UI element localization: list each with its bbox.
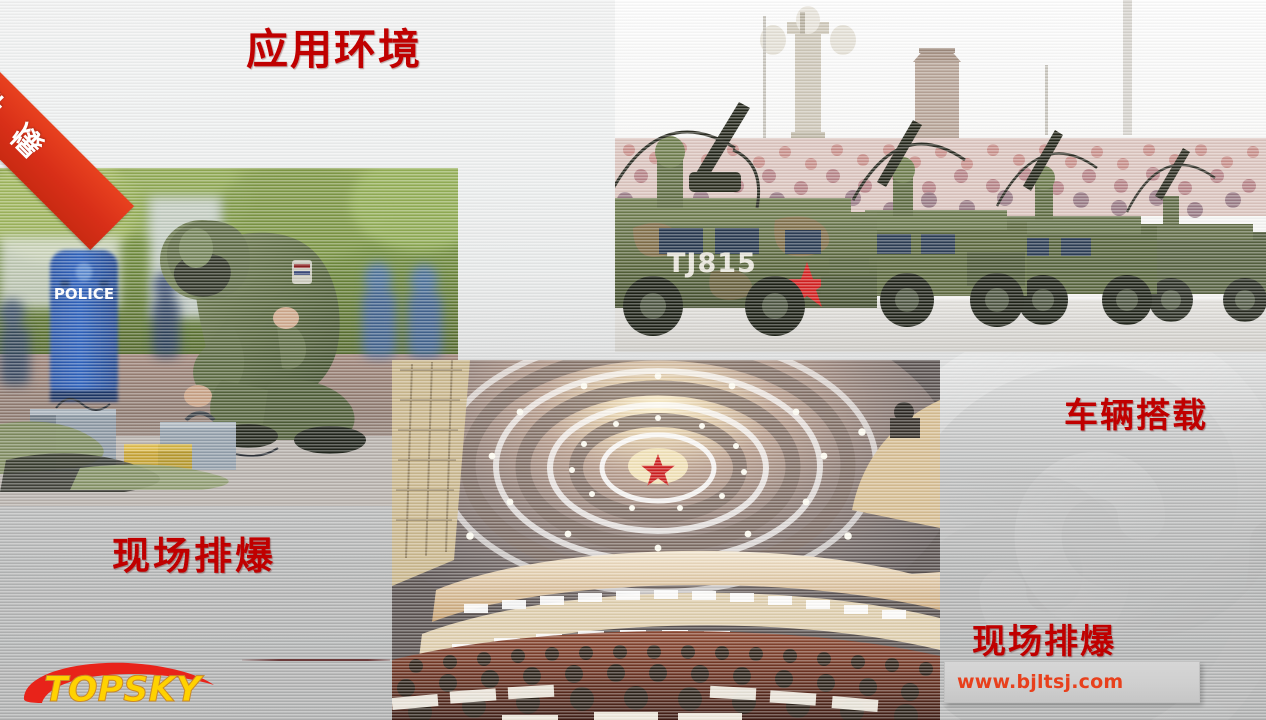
caption-onsite-bomb-disposal-right: 现场排爆 <box>972 614 1116 663</box>
vehicle-plate-number: TJ815 <box>667 248 757 279</box>
website-url-plaque[interactable]: www.bjltsj.com <box>944 661 1200 703</box>
police-shield-label: POLICE <box>54 285 114 303</box>
caption-vehicle-mounted: 车辆搭载 <box>1064 388 1208 437</box>
logo-wordmark: TOPSKY <box>44 670 205 710</box>
caption-onsite-bomb-disposal-left: 现场排爆 <box>112 525 276 580</box>
slide-title: 应用环境 <box>246 16 422 77</box>
hall-photo-graphic <box>392 360 940 720</box>
footer-divider <box>242 659 390 661</box>
photo-vehicle-parade: TJ815 <box>615 0 1266 352</box>
photo-great-hall <box>392 360 940 720</box>
presentation-slide: POLICE <box>0 0 1266 720</box>
website-url-text: www.bjltsj.com <box>957 671 1123 693</box>
parade-photo-graphic: TJ815 <box>615 0 1266 352</box>
topsky-logo-icon: TOPSKY <box>18 655 234 713</box>
